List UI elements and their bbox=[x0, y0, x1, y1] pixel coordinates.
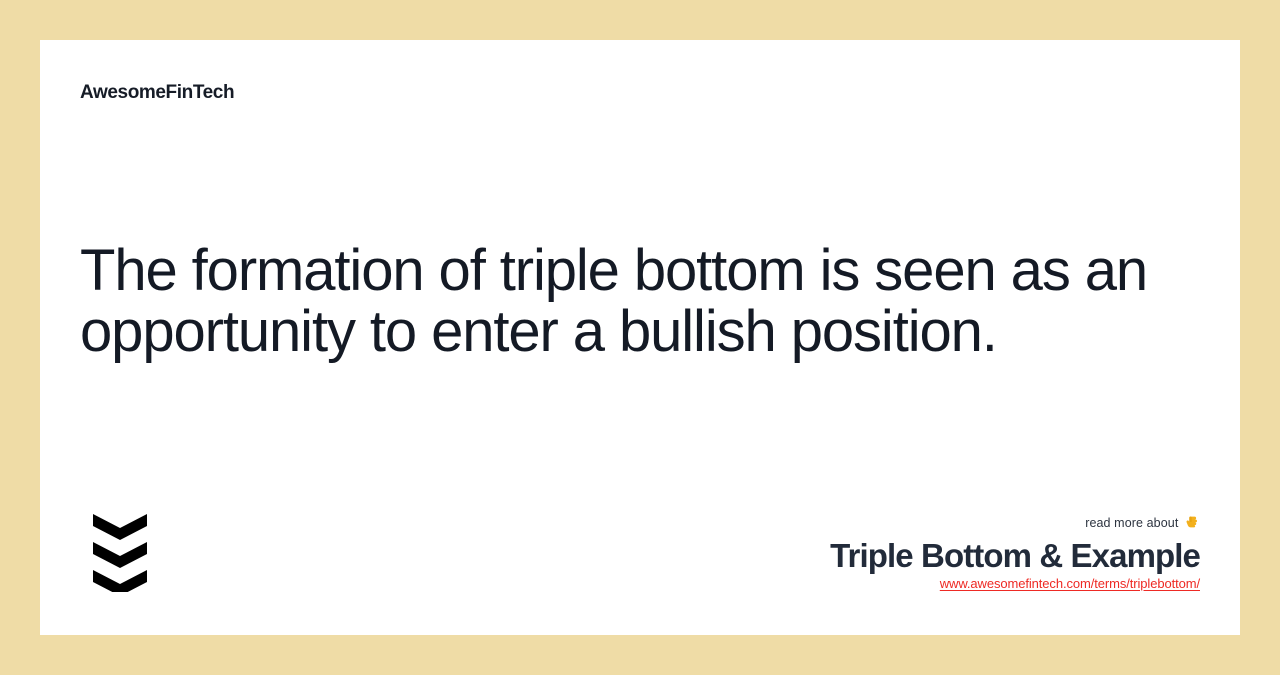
read-more-row: read more about bbox=[830, 515, 1200, 535]
brand-logo-text: AwesomeFinTech bbox=[80, 82, 234, 104]
term-title: Triple Bottom & Example bbox=[830, 537, 1200, 574]
term-url-link[interactable]: www.awesomefintech.com/terms/triplebotto… bbox=[940, 575, 1200, 593]
card-footer: read more about Triple Bottom & Example … bbox=[40, 485, 1240, 635]
read-more-label: read more about bbox=[1085, 516, 1178, 530]
triple-chevron-down-icon bbox=[93, 514, 147, 592]
quote-card: AwesomeFinTech The formation of triple b… bbox=[40, 40, 1240, 635]
pointing-down-hand-icon bbox=[1186, 516, 1200, 535]
headline-quote: The formation of triple bottom is seen a… bbox=[80, 240, 1200, 362]
term-link-block[interactable]: read more about Triple Bottom & Example … bbox=[830, 515, 1200, 593]
